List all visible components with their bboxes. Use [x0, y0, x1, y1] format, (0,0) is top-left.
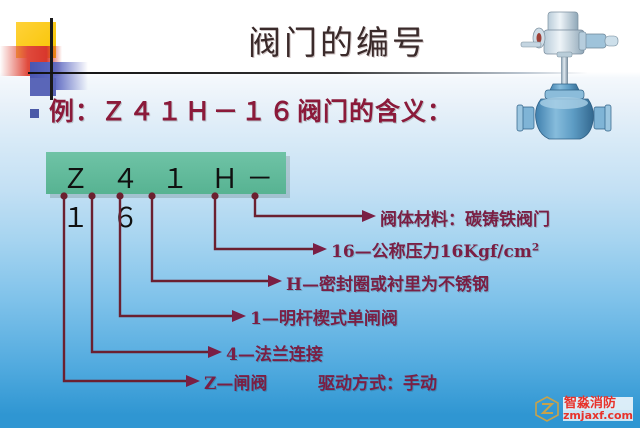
decorative-corner-graphic	[0, 18, 120, 100]
annotation-connection: 4—法兰连接	[226, 340, 323, 365]
title-underline-rule	[28, 72, 588, 74]
annotation-nominal-pressure-superscript: 2	[532, 241, 539, 253]
watermark: 智淼消防 zmjaxf.com	[534, 396, 633, 422]
valve-photo	[505, 2, 633, 142]
valve-code-box: Ｚ ４ １ Ｈ－１ ６	[46, 152, 286, 194]
watermark-logo-icon	[534, 396, 560, 422]
watermark-text-block: 智淼消防 zmjaxf.com	[563, 397, 633, 421]
example-line: 例：Ｚ４１Ｈ－１６阀门的含义：	[30, 92, 453, 128]
annotation-stem-type: 1—明杆楔式单闸阀	[250, 304, 398, 329]
valve-code-text: Ｚ ４ １ Ｈ－１ ６	[62, 157, 286, 235]
annotation-nominal-pressure: 16—公称压力16Kgf/cm2	[331, 237, 539, 262]
example-text: 例：Ｚ４１Ｈ－１６阀门的含义：	[49, 92, 453, 128]
example-suffix: 阀门的含义：	[297, 97, 453, 126]
annotation-nominal-pressure-text: 16—公称压力16Kgf/cm	[331, 242, 532, 262]
deco-vertical-rule	[50, 18, 53, 100]
example-prefix: 例：	[49, 97, 101, 126]
annotation-valve-type: Z—闸阀	[204, 369, 267, 394]
example-code: Ｚ４１Ｈ－１６	[101, 99, 297, 126]
bullet-icon	[30, 109, 39, 118]
page-title: 阀门的编号	[248, 16, 428, 64]
annotation-body-material: 阀体材料：碳铸铁阀门	[380, 205, 550, 230]
annotation-seal-ring: H—密封圈或衬里为不锈钢	[286, 270, 489, 295]
annotation-drive-mode: 驱动方式：手动	[318, 369, 437, 394]
slide-canvas: 阀门的编号	[0, 0, 640, 428]
watermark-en: zmjaxf.com	[563, 410, 633, 421]
